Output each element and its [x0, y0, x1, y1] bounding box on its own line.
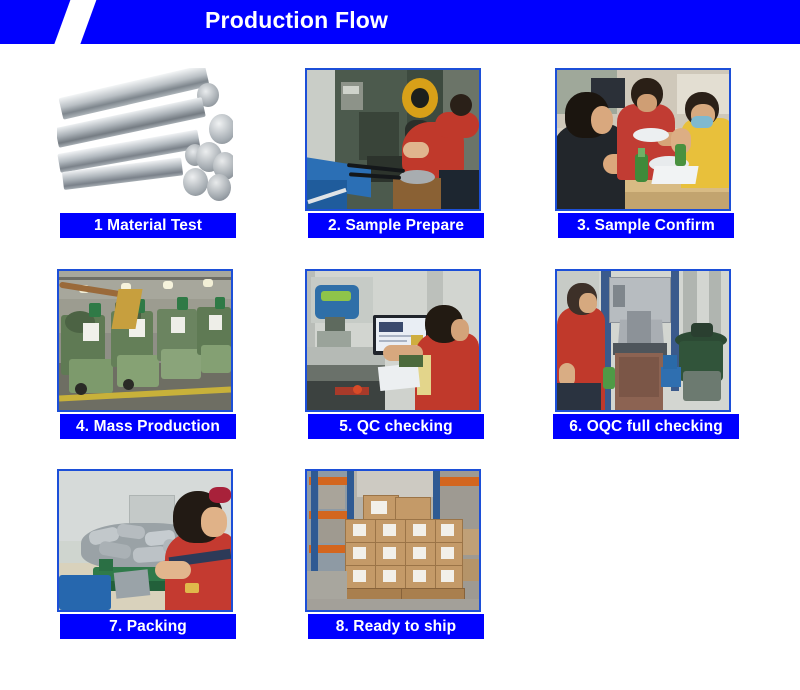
- step-5-label: 5. QC checking: [308, 414, 484, 439]
- step-2-label: 2. Sample Prepare: [308, 213, 484, 238]
- step-8-photo: [305, 469, 481, 612]
- step-3-photo: [555, 68, 731, 211]
- flow-step-3[interactable]: 3. Sample Confirm: [555, 68, 735, 211]
- step-3-label: 3. Sample Confirm: [558, 213, 734, 238]
- page-title: Production Flow: [205, 7, 388, 34]
- step-8-label: 8. Ready to ship: [308, 614, 484, 639]
- flow-step-4[interactable]: 4. Mass Production: [57, 269, 237, 412]
- flow-step-6[interactable]: 6. OQC full checking: [555, 269, 735, 412]
- step-7-label: 7. Packing: [60, 614, 236, 639]
- production-flow-grid: 1 Material Test: [0, 44, 800, 690]
- step-2-photo: [305, 68, 481, 211]
- step-6-label: 6. OQC full checking: [553, 414, 739, 439]
- flow-step-7[interactable]: 7. Packing: [57, 469, 237, 612]
- step-6-photo: [555, 269, 731, 412]
- flow-step-5[interactable]: 5. QC checking: [305, 269, 485, 412]
- step-7-photo: [57, 469, 233, 612]
- page-header: Production Flow: [0, 0, 800, 44]
- flow-step-1[interactable]: 1 Material Test: [57, 68, 237, 211]
- step-1-label: 1 Material Test: [60, 213, 236, 238]
- step-4-photo: [57, 269, 233, 412]
- step-4-label: 4. Mass Production: [60, 414, 236, 439]
- diagonal-slash-icon: [51, 0, 98, 44]
- flow-step-8[interactable]: 8. Ready to ship: [305, 469, 485, 612]
- step-1-photo: [57, 68, 233, 211]
- flow-step-2[interactable]: 2. Sample Prepare: [305, 68, 485, 211]
- step-5-photo: [305, 269, 481, 412]
